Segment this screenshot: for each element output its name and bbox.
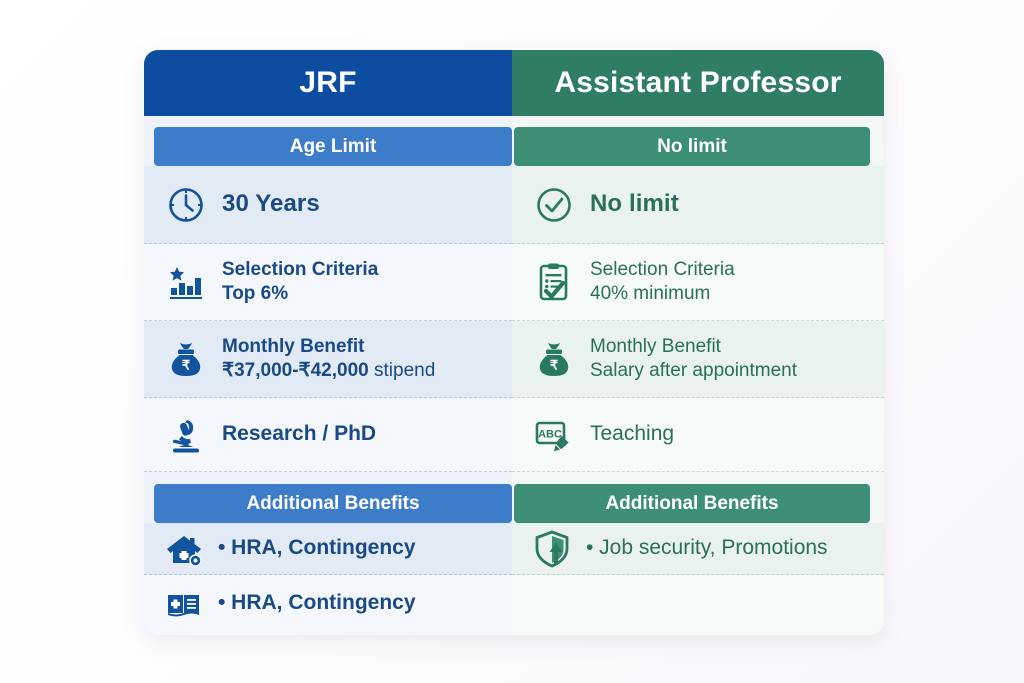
label-jrf-benefit: Monthly Benefit <box>222 335 435 359</box>
section-bar-ap-additional-benefits: Additional Benefits <box>514 484 870 523</box>
row-jrf-work: Research / PhD <box>144 398 512 472</box>
value-jrf-benefit-suffix: stipend <box>369 360 436 381</box>
section-gap-jrf <box>144 472 512 484</box>
value-jrf-work: Research / PhD <box>222 421 376 448</box>
column-tail-jrf <box>144 632 512 635</box>
section-bar-jrf-additional-benefits: Additional Benefits <box>154 484 512 523</box>
value-jrf-benefit: ₹37,000-₹42,000 <box>222 360 369 381</box>
header-gap-jrf <box>144 116 512 127</box>
value-jrf-age: 30 Years <box>222 189 320 220</box>
chalkboard-abc-pencil-icon: ABC <box>532 413 576 457</box>
row-text-ap-benefit: Monthly Benefit Salary after appointment <box>590 335 797 384</box>
comparison-card: JRF Age Limit <box>144 50 884 635</box>
value-jrf-benefit-1: • HRA, Contingency <box>218 535 416 562</box>
section-bar-wrap-jrf-1: Additional Benefits <box>144 484 512 523</box>
row-text-jrf-benefit-2: • HRA, Contingency <box>218 590 416 617</box>
row-text-jrf-age: 30 Years <box>222 189 320 220</box>
row-jrf-age: 30 Years <box>144 166 512 244</box>
value-ap-age: No limit <box>590 189 679 220</box>
row-text-ap-work: Teaching <box>590 421 674 448</box>
column-assistant-professor: Assistant Professor No limit No limit <box>512 50 884 635</box>
row-text-jrf-work: Research / PhD <box>222 421 376 448</box>
row-ap-work: ABC Teaching <box>512 398 884 472</box>
value-jrf-benefit-2: • HRA, Contingency <box>218 590 416 617</box>
row-text-jrf-selection: Selection Criteria Top 6% <box>222 258 378 307</box>
shield-arrow-up-icon <box>532 529 572 569</box>
column-jrf: JRF Age Limit <box>144 50 512 635</box>
label-ap-benefit: Monthly Benefit <box>590 335 797 359</box>
value-ap-selection: 40% minimum <box>590 282 735 306</box>
section-bar-wrap-ap-1: Additional Benefits <box>512 484 884 523</box>
row-ap-benefit: ₹ Monthly Benefit Salary after appointme… <box>512 321 884 398</box>
row-jrf-selection: Selection Criteria Top 6% <box>144 244 512 321</box>
section-bar-jrf-age-limit: Age Limit <box>154 127 512 166</box>
microscope-icon <box>164 413 208 457</box>
svg-text:ABC: ABC <box>538 428 562 440</box>
clipboard-check-icon <box>532 260 576 304</box>
section-bar-ap-no-limit: No limit <box>514 127 870 166</box>
header-gap-ap <box>512 116 884 127</box>
value-jrf-selection: Top 6% <box>222 282 378 306</box>
star-bar-chart-icon <box>164 260 208 304</box>
book-medical-icon <box>164 584 204 624</box>
row-jrf-benefit-2: • HRA, Contingency <box>144 575 512 632</box>
row-ap-benefit-1: • Job security, Promotions <box>512 523 884 575</box>
row-text-ap-age: No limit <box>590 189 679 220</box>
section-bar-wrap-jrf-0: Age Limit <box>144 127 512 166</box>
value-ap-benefit: Salary after appointment <box>590 359 797 383</box>
row-text-ap-benefit-1: • Job security, Promotions <box>586 535 828 562</box>
label-jrf-selection: Selection Criteria <box>222 258 378 282</box>
section-bar-wrap-ap-0: No limit <box>512 127 884 166</box>
row-text-ap-selection: Selection Criteria 40% minimum <box>590 258 735 307</box>
label-ap-selection: Selection Criteria <box>590 258 735 282</box>
row-ap-selection: Selection Criteria 40% minimum <box>512 244 884 321</box>
row-jrf-benefit: ₹ Monthly Benefit ₹37,000-₹42,000 stipen… <box>144 321 512 398</box>
house-medical-icon <box>164 529 204 569</box>
column-title-jrf: JRF <box>144 50 512 116</box>
money-bag-rupee-icon: ₹ <box>164 337 208 381</box>
svg-text:₹: ₹ <box>182 358 191 373</box>
comparison-columns: JRF Age Limit <box>144 50 884 635</box>
column-title-assistant-professor: Assistant Professor <box>512 50 884 116</box>
row-text-jrf-benefit: Monthly Benefit ₹37,000-₹42,000 stipend <box>222 335 435 384</box>
svg-text:₹: ₹ <box>550 358 559 373</box>
value-ap-work: Teaching <box>590 421 674 448</box>
money-bag-rupee-icon: ₹ <box>532 337 576 381</box>
row-ap-age: No limit <box>512 166 884 244</box>
value-ap-benefit-1: • Job security, Promotions <box>586 535 828 562</box>
row-jrf-benefit-1: • HRA, Contingency <box>144 523 512 575</box>
clock-icon <box>164 183 208 227</box>
value-jrf-benefit-line: ₹37,000-₹42,000 stipend <box>222 359 435 383</box>
column-tail-ap <box>512 632 884 635</box>
check-circle-icon <box>532 183 576 227</box>
row-ap-benefit-2 <box>512 575 884 632</box>
section-gap-ap <box>512 472 884 484</box>
row-text-jrf-benefit-1: • HRA, Contingency <box>218 535 416 562</box>
